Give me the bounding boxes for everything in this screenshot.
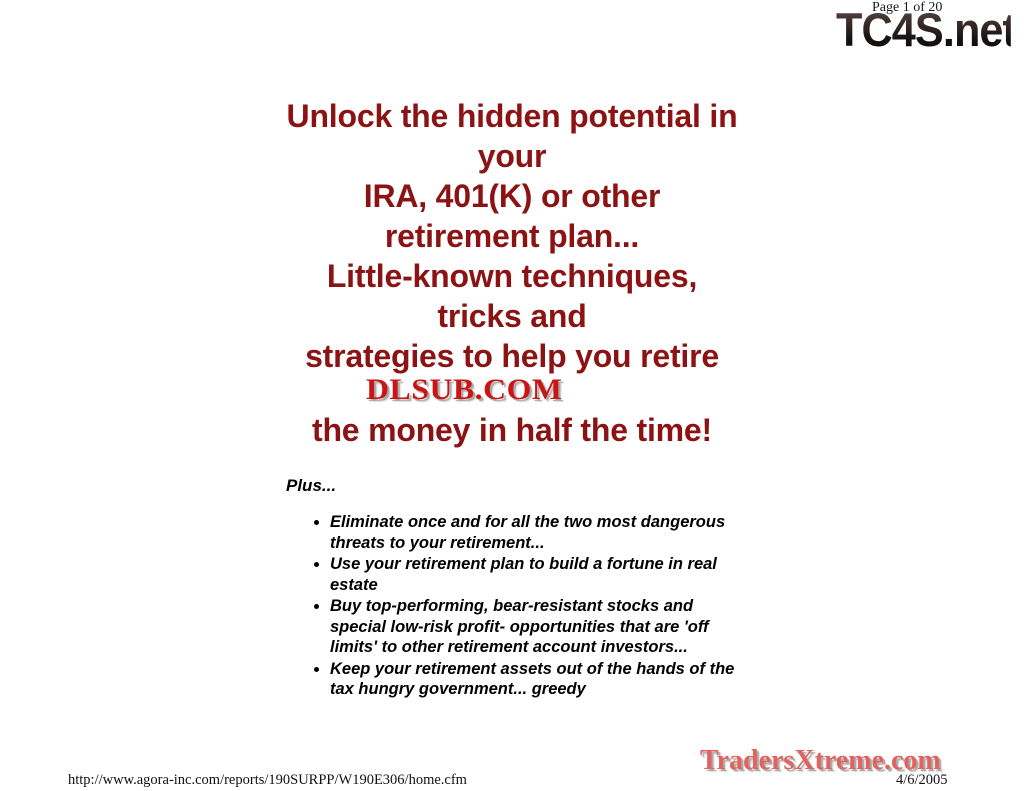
bullet-dot-icon bbox=[314, 520, 319, 525]
headline-line-3: IRA, 401(K) or other bbox=[176, 176, 848, 216]
headline-line-5: Little-known techniques, bbox=[176, 256, 848, 296]
list-item: Keep your retirement assets out of the h… bbox=[302, 659, 752, 700]
headline-line-4: retirement plan... bbox=[176, 216, 848, 256]
benefits-bullet-list: Eliminate once and for all the two most … bbox=[302, 512, 752, 701]
bullet-dot-icon bbox=[314, 604, 319, 609]
bullet-dot-icon bbox=[314, 667, 319, 672]
slide-page: { "header": { "page_indicator": "Page 1 … bbox=[0, 0, 1024, 791]
plus-label: Plus... bbox=[286, 476, 336, 496]
dlsub-watermark: DLSUB.COM bbox=[366, 374, 562, 406]
list-item-text: Buy top-performing, bear-resistant stock… bbox=[330, 597, 709, 656]
headline-line-7: strategies to help you retire bbox=[176, 336, 848, 376]
list-item: Eliminate once and for all the two most … bbox=[302, 512, 752, 553]
list-item-text: Keep your retirement assets out of the h… bbox=[330, 660, 734, 699]
dlsub-watermark-text: DLSUB.COM bbox=[366, 373, 562, 406]
list-item-text: Use your retirement plan to build a fort… bbox=[330, 555, 717, 594]
headline-line-1: Unlock the hidden potential in bbox=[176, 96, 848, 136]
footer-date: 4/6/2005 bbox=[896, 772, 948, 789]
list-item-text: Eliminate once and for all the two most … bbox=[330, 513, 725, 552]
list-item: Use your retirement plan to build a fort… bbox=[302, 554, 752, 595]
page-number-indicator: Page 1 of 20 bbox=[872, 0, 942, 16]
headline-line-2: your bbox=[176, 136, 848, 176]
list-item: Buy top-performing, bear-resistant stock… bbox=[302, 596, 752, 658]
source-url-text: http://www.agora-inc.com/reports/190SURP… bbox=[68, 772, 467, 789]
headline-line-9: the money in half the time! bbox=[176, 410, 848, 450]
headline-line-6: tricks and bbox=[176, 296, 848, 336]
bullet-dot-icon bbox=[314, 562, 319, 567]
